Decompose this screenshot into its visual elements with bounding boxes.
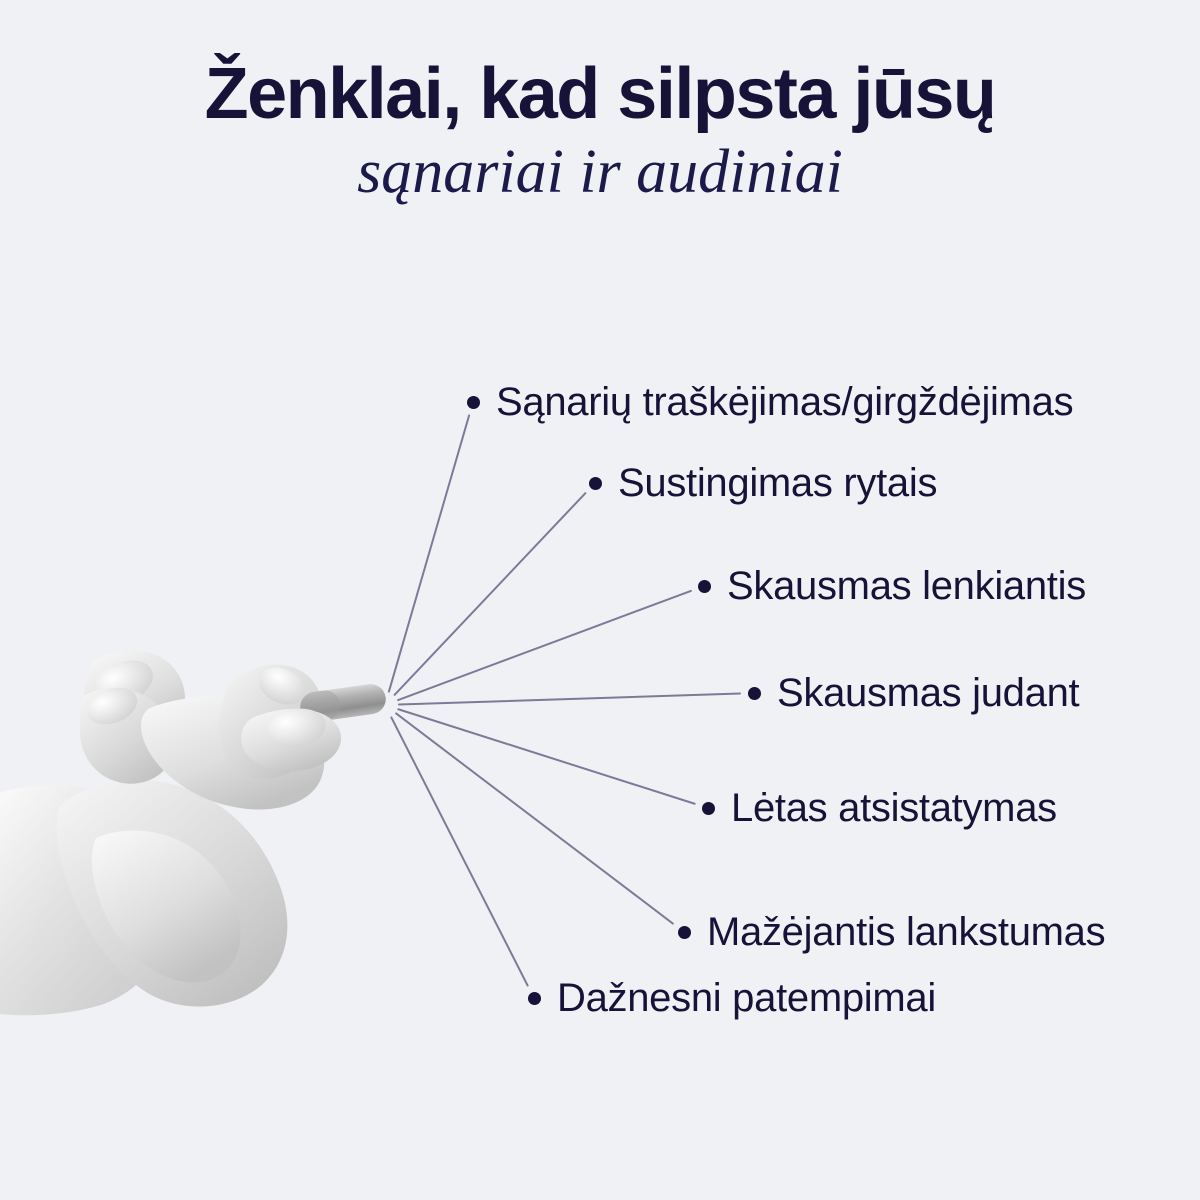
bullet-dot-icon [528, 992, 541, 1005]
callout-label: Mažėjantis lankstumas [707, 910, 1105, 954]
bullet-dot-icon [678, 926, 691, 939]
connector-line-2 [395, 493, 586, 695]
callout-skausmas-lenkiantis: Skausmas lenkiantis [698, 564, 1086, 608]
bullet-dot-icon [467, 396, 480, 409]
bullet-dot-icon [748, 687, 761, 700]
hand-holding-capsule-photo [0, 600, 420, 1020]
callout-label: Sąnarių traškėjimas/girgždėjimas [496, 380, 1073, 424]
callout-mazejantis-lankstumas: Mažėjantis lankstumas [678, 910, 1105, 954]
callout-label: Dažnesni patempimai [557, 976, 936, 1020]
bullet-dot-icon [702, 802, 715, 815]
page-title-line1: Ženklai, kad silpsta jūsų [0, 56, 1200, 132]
connector-line-3 [398, 591, 691, 700]
bullet-dot-icon [589, 477, 602, 490]
bullet-dot-icon [698, 580, 711, 593]
poster-header: Ženklai, kad silpsta jūsų sąnariai ir au… [0, 0, 1200, 208]
callout-label: Skausmas lenkiantis [727, 564, 1086, 608]
callout-label: Skausmas judant [777, 671, 1079, 715]
infographic-poster: Ženklai, kad silpsta jūsų sąnariai ir au… [0, 0, 1200, 1200]
callout-sanariu-traskejimas: Sąnarių traškėjimas/girgždėjimas [467, 380, 1073, 424]
callout-sustingimas-rytais: Sustingimas rytais [589, 461, 937, 505]
callout-skausmas-judant: Skausmas judant [748, 671, 1079, 715]
connector-line-6 [396, 713, 673, 923]
connector-line-5 [398, 709, 694, 803]
connector-line-4 [399, 693, 740, 704]
page-subtitle-line2: sąnariai ir audiniai [0, 132, 1200, 207]
callout-label: Sustingimas rytais [618, 461, 937, 505]
callout-letas-atsistatymas: Lėtas atsistatymas [702, 786, 1057, 830]
callout-daznesni-patempimai: Dažnesni patempimai [528, 976, 936, 1020]
callout-label: Lėtas atsistatymas [731, 786, 1057, 830]
